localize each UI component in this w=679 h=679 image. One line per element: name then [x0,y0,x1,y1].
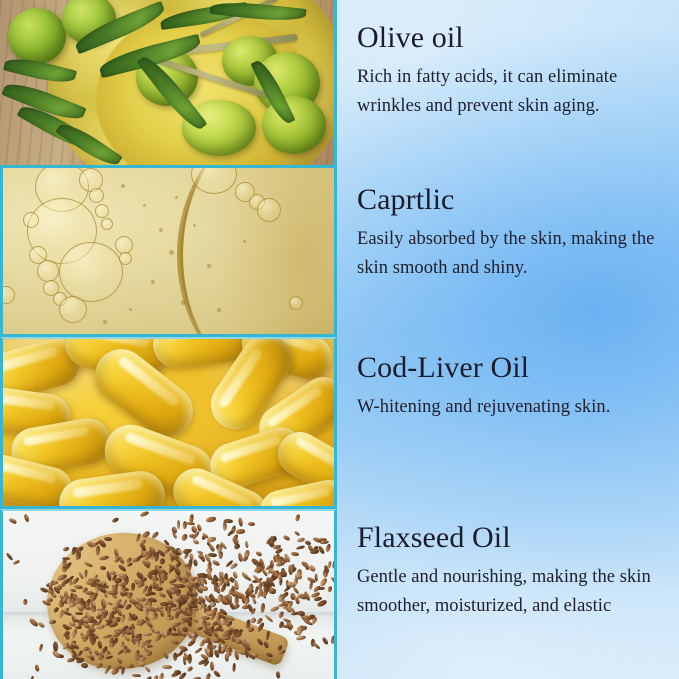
oil-bubble [23,212,39,228]
entry-description-caprtlic: Easily absorbed by the skin, making the … [357,225,669,283]
flaxseed [289,565,293,575]
entry-title-cod-liver-oil: Cod-Liver Oil [357,352,669,384]
oil-speck [143,204,146,207]
oil-speck [181,300,186,305]
oil-speck [159,228,163,232]
oil-speck [169,250,174,255]
flaxseed [215,586,220,593]
cod-liver-oil-photo [3,339,334,506]
flaxseed [53,642,58,652]
flaxseed [95,585,99,593]
entry-olive-oil: Olive oil Rich in fatty acids, it can el… [357,22,669,121]
oil-speck [121,184,125,188]
flaxseed [127,664,134,668]
oil-speck [175,196,178,199]
photo-panel-caprtlic [0,168,337,337]
photo-column [0,0,340,679]
oil-bubble [101,218,113,230]
flaxseed [104,537,112,541]
glass-jar-rim [177,168,334,334]
entry-title-flaxseed-oil: Flaxseed Oil [357,522,669,554]
flaxseed [86,580,96,585]
infographic-poster: Olive oil Rich in fatty acids, it can el… [0,0,679,679]
oil-bubble [95,204,109,218]
oil-bubble [59,242,123,302]
flaxseed [114,578,122,583]
flaxseed [210,662,214,671]
photo-panel-olive-oil [0,0,337,168]
oil-speck [243,240,246,243]
flaxseed [232,636,236,642]
oil-bubble [59,296,87,323]
oil-speck [129,308,132,311]
flaxseed [276,671,280,678]
oil-speck [207,264,211,268]
flaxseed [135,640,140,647]
flaxseed [61,566,66,572]
olive-oil-photo [0,0,334,165]
entry-description-flaxseed-oil: Gentle and nourishing, making the skin s… [357,563,669,621]
entry-description-olive-oil: Rich in fatty acids, it can eliminate wr… [357,63,669,121]
oil-bubble [89,188,104,203]
caprylic-oil-photo [3,168,334,334]
oil-speck [217,308,221,312]
flaxseed [323,569,328,577]
flaxseed [209,648,213,657]
flaxseed [121,585,126,592]
flaxseed-oil-photo [3,511,334,679]
entry-title-caprtlic: Caprtlic [357,184,669,216]
flaxseed [173,653,177,661]
oil-bubble [119,252,132,265]
oil-speck [193,224,196,227]
entry-description-cod-liver-oil: W-hitening and rejuvenating skin. [357,393,669,422]
photo-panel-flaxseed-oil [0,509,337,679]
entry-title-olive-oil: Olive oil [357,22,669,54]
flaxseed [236,528,246,533]
entry-caprtlic: Caprtlic Easily absorbed by the skin, ma… [357,184,669,283]
flaxseed [247,521,254,526]
oil-speck [151,280,155,284]
photo-panel-cod-liver-oil [0,337,337,509]
entry-flaxseed-oil: Flaxseed Oil Gentle and nourishing, maki… [357,522,669,621]
flaxseed [309,548,318,553]
flaxseed [269,560,273,568]
oil-bubble [257,198,281,222]
entry-cod-liver-oil: Cod-Liver Oil W-hitening and rejuvenatin… [357,352,669,422]
flaxseed [162,664,172,669]
oil-bubble [37,260,59,282]
oil-speck [103,320,107,324]
oil-bubble [289,296,303,310]
flaxseed [182,654,190,660]
text-column: Olive oil Rich in fatty acids, it can el… [340,0,679,679]
olive-fruit [8,8,66,64]
